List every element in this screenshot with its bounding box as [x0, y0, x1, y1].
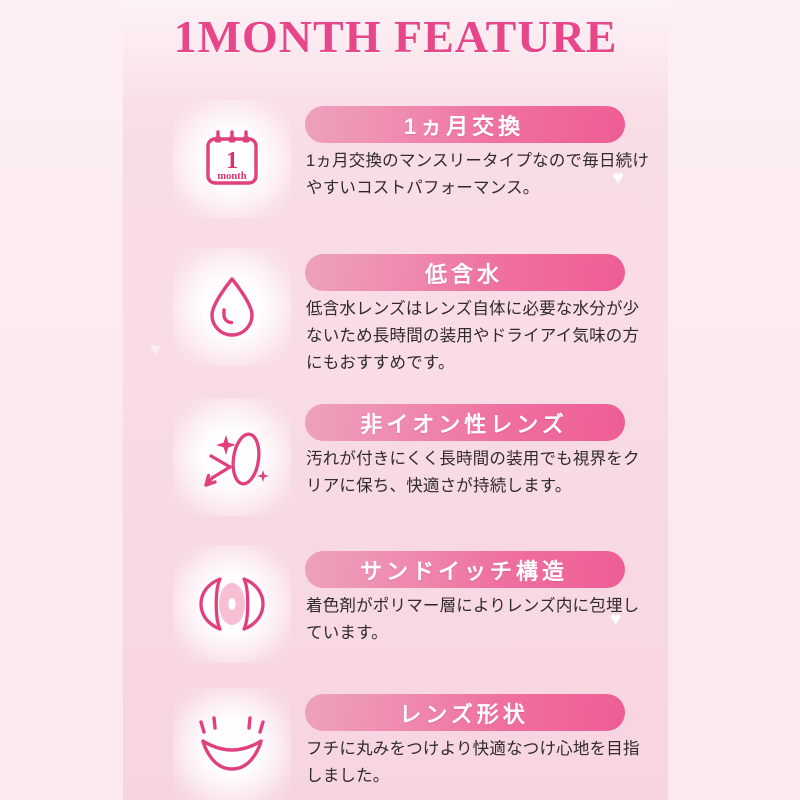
non-ionic-lens-repel-icon: [173, 398, 291, 516]
infographic-stage: 1MONTH FEATURE 1 month: [0, 0, 800, 800]
feature-description-5: フチに丸みをつけより快適なつけ心地を目指しました。: [306, 736, 651, 790]
content-panel: 1MONTH FEATURE 1 month: [123, 0, 668, 800]
feature-row-5: レンズ形状 フチに丸みをつけより快適なつけ心地を目指しました。: [123, 688, 668, 800]
feature-label-5: レンズ形状: [305, 694, 625, 731]
feature-label-1: 1ヵ月交換: [305, 106, 625, 143]
feature-label-2: 低含水: [305, 254, 625, 291]
feature-description-4: 着色剤がポリマー層によりレンズ内に包埋しています。: [306, 593, 651, 647]
page-title: 1MONTH FEATURE: [123, 10, 668, 63]
feature-row-3: 非イオン性レンズ 汚れが付きにくく長時間の装用でも視界をクリアに保ち、快適さが持…: [123, 398, 668, 528]
calendar-1-month-icon: 1 month: [173, 100, 291, 218]
lens-edge-shape-icon: [173, 688, 291, 800]
sandwich-structure-icon: [173, 545, 291, 663]
feature-row-2: 低含水 低含水レンズはレンズ自体に必要な水分が少ないため長時間の装用やドライアイ…: [123, 248, 668, 378]
sparkle-group: [216, 435, 269, 482]
feature-row-1: 1 month 1ヵ月交換 1ヵ月交換のマンスリータイプなので毎日続けやすいコス…: [123, 100, 668, 230]
feature-description-2: 低含水レンズはレンズ自体に必要な水分が少ないため長時間の装用やドライアイ気味の方…: [306, 296, 651, 377]
feature-row-4: サンドイッチ構造 着色剤がポリマー層によりレンズ内に包埋しています。: [123, 545, 668, 675]
feature-description-3: 汚れが付きにくく長時間の装用でも視界をクリアに保ち、快適さが持続します。: [306, 446, 651, 500]
feature-label-3: 非イオン性レンズ: [305, 404, 625, 441]
feature-description-1: 1ヵ月交換のマンスリータイプなので毎日続けやすいコストパフォーマンス。: [306, 148, 651, 202]
feature-label-4: サンドイッチ構造: [305, 551, 625, 588]
calendar-unit: month: [217, 171, 246, 182]
water-drop-icon: [173, 248, 291, 366]
